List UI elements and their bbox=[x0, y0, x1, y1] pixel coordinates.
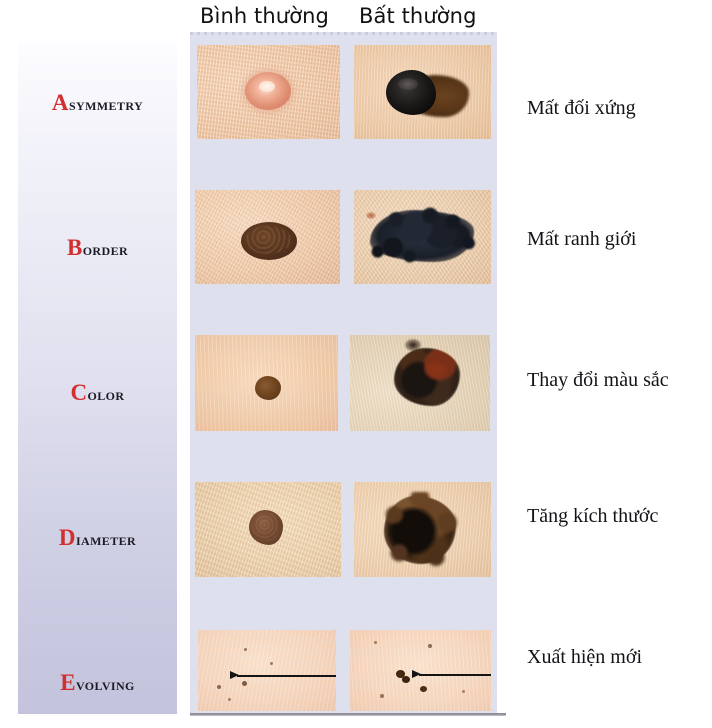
lesion-ragged-rim bbox=[380, 492, 460, 568]
freckle-spot bbox=[270, 662, 273, 665]
criterion-initial-d: D bbox=[59, 525, 76, 550]
photo-color-normal bbox=[195, 335, 338, 431]
description-evolving: Xuất hiện mới bbox=[527, 646, 642, 669]
freckle-spot bbox=[428, 644, 432, 648]
lesion-ragged-edge bbox=[364, 206, 478, 266]
freckle-spot bbox=[242, 681, 247, 686]
photo-border-abnormal bbox=[354, 190, 491, 284]
description-diameter: Tăng kích thước bbox=[527, 505, 658, 528]
photo-diameter-normal bbox=[195, 482, 341, 577]
lesion-black-core bbox=[386, 70, 436, 115]
column-header-normal: Bình thường bbox=[200, 4, 329, 28]
criterion-row-border: Border bbox=[18, 235, 177, 261]
lesion-shape bbox=[255, 376, 281, 400]
criterion-rest-border: order bbox=[83, 240, 128, 259]
photo-evolving-abnormal bbox=[350, 630, 491, 711]
photo-diameter-abnormal bbox=[354, 482, 491, 577]
column-header-abnormal: Bất thường bbox=[359, 4, 477, 28]
bottom-rule bbox=[190, 713, 506, 716]
panel-top-edge bbox=[190, 32, 497, 35]
new-dark-spot bbox=[420, 686, 427, 692]
pointer-arrow-head bbox=[412, 670, 421, 678]
description-asymmetry: Mất đối xứng bbox=[527, 97, 636, 120]
criterion-rest-diameter: iameter bbox=[76, 530, 136, 549]
criterion-initial-e: E bbox=[60, 670, 76, 695]
lesion-red-area bbox=[424, 361, 448, 379]
description-border: Mất ranh giới bbox=[527, 228, 636, 251]
new-dark-spot bbox=[402, 676, 410, 683]
photo-asymmetry-normal bbox=[197, 45, 340, 139]
criterion-label-border: Border bbox=[67, 240, 128, 259]
lesion-black-highlight bbox=[398, 78, 418, 90]
lesion-red-spot bbox=[366, 212, 376, 219]
photo-asymmetry-abnormal bbox=[354, 45, 491, 139]
lesion-surface-texture bbox=[245, 226, 291, 254]
criterion-rest-evolving: volving bbox=[76, 675, 135, 694]
criterion-initial-a: A bbox=[52, 90, 69, 115]
description-color: Thay đổi màu sắc bbox=[527, 369, 669, 392]
criterion-initial-b: B bbox=[67, 235, 83, 260]
criterion-label-asymmetry: Asymmetry bbox=[52, 95, 143, 114]
photo-color-abnormal bbox=[350, 335, 490, 431]
criterion-row-diameter: Diameter bbox=[18, 525, 177, 551]
criterion-rest-asymmetry: symmetry bbox=[69, 95, 143, 114]
criterion-row-asymmetry: Asymmetry bbox=[18, 90, 177, 116]
freckle-spot bbox=[244, 648, 247, 651]
abcde-criteria-panel: Asymmetry Border Color Diameter Evolving bbox=[18, 42, 177, 714]
freckle-spot bbox=[462, 690, 465, 693]
lesion-highlight bbox=[259, 81, 275, 92]
criterion-initial-c: C bbox=[71, 380, 88, 405]
pointer-arrow-line bbox=[419, 674, 491, 676]
photo-evolving-normal bbox=[198, 630, 336, 711]
freckle-spot bbox=[228, 698, 231, 701]
pointer-arrow-head bbox=[230, 671, 239, 679]
lesion-dark-satellite bbox=[405, 339, 421, 351]
criterion-label-color: Color bbox=[71, 385, 125, 404]
criterion-label-evolving: Evolving bbox=[60, 675, 135, 694]
criterion-rest-color: olor bbox=[88, 385, 125, 404]
skin-texture bbox=[198, 630, 336, 711]
freckle-spot bbox=[217, 685, 221, 689]
criterion-label-diameter: Diameter bbox=[59, 530, 136, 549]
lesion-photo-grid bbox=[190, 32, 497, 714]
photo-border-normal bbox=[195, 190, 340, 284]
criterion-row-color: Color bbox=[18, 380, 177, 406]
lesion-surface-texture bbox=[252, 513, 280, 541]
criterion-row-evolving: Evolving bbox=[18, 670, 177, 696]
lesion-variegated-mass bbox=[394, 348, 460, 406]
freckle-spot bbox=[380, 694, 384, 698]
pointer-arrow-line bbox=[237, 675, 336, 677]
freckle-spot bbox=[374, 641, 377, 644]
